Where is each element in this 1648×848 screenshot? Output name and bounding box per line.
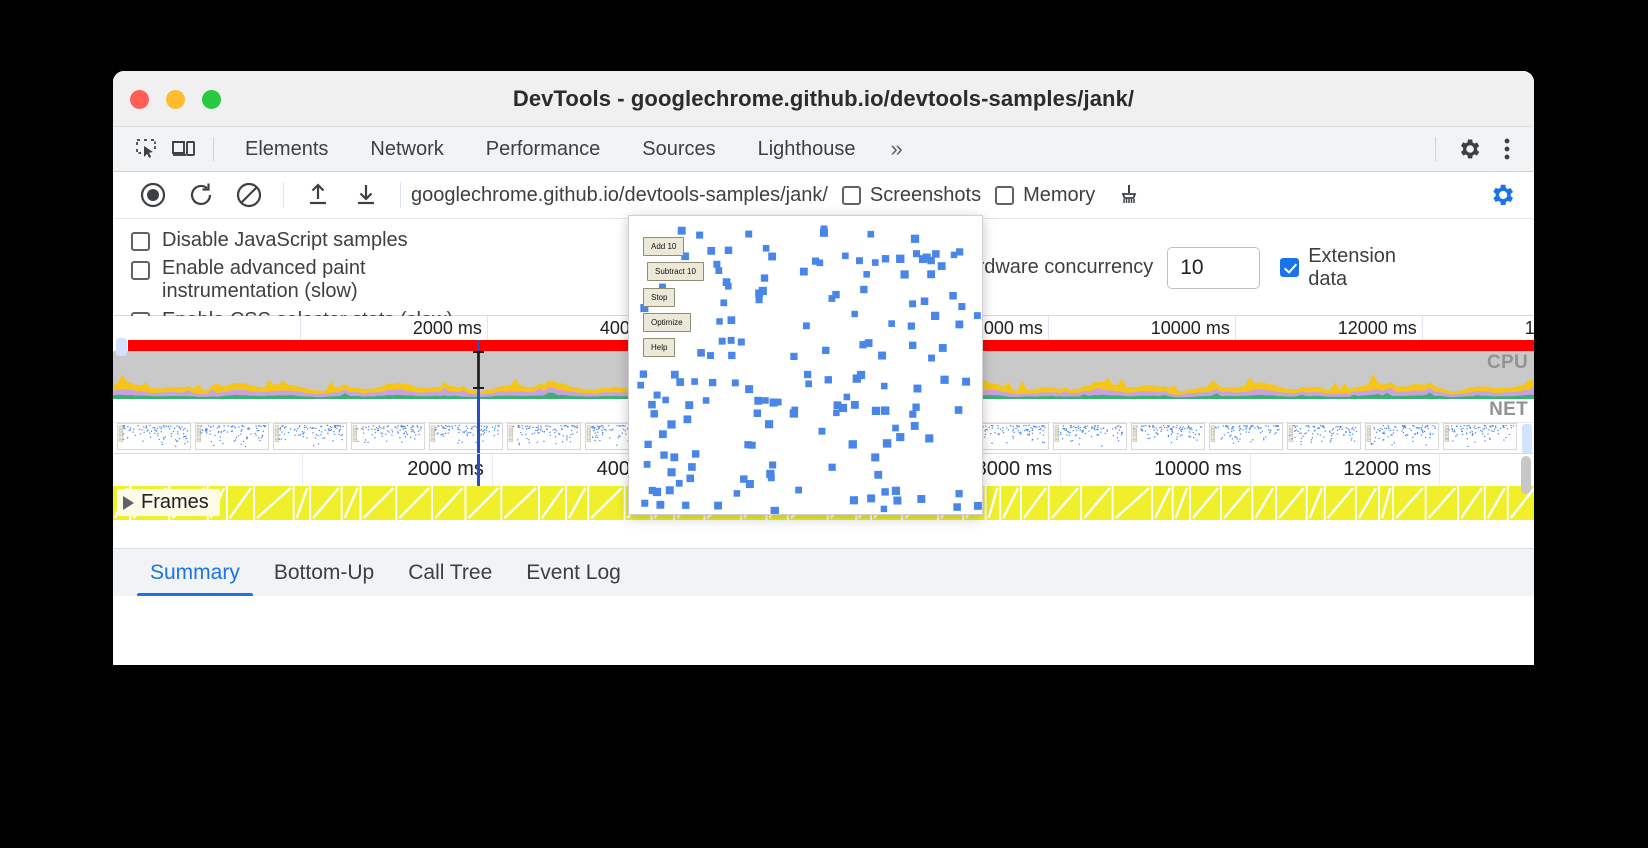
- timeline-scrollbar[interactable]: [1521, 456, 1531, 494]
- preview-button-stop[interactable]: Stop: [643, 288, 675, 307]
- overview-playhead-grip[interactable]: [472, 350, 485, 390]
- advanced-paint-checkbox[interactable]: [131, 261, 150, 280]
- advanced-paint-label: Enable advanced paint instrumentation (s…: [162, 257, 462, 303]
- devtools-window: DevTools - googlechrome.github.io/devtoo…: [113, 71, 1534, 665]
- detail-tick: 10000 ms: [1060, 454, 1249, 486]
- overview-window-left-handle[interactable]: [116, 338, 127, 356]
- extension-data-label: Extension data: [1308, 245, 1418, 291]
- hardware-concurrency-input[interactable]: 10: [1167, 247, 1260, 289]
- filmstrip-thumbnail[interactable]: [507, 423, 581, 450]
- detail-tick: 2000 ms: [302, 454, 491, 486]
- detail-tick: 14000 ms: [1439, 454, 1534, 486]
- screenshots-checkbox[interactable]: Screenshots: [842, 184, 981, 207]
- overview-tick-label: 2000 ms: [413, 318, 482, 339]
- disable-js-samples-label: Disable JavaScript samples: [162, 228, 408, 252]
- detail-tick-label: 10000 ms: [1154, 458, 1242, 481]
- detail-tick-label: 8000 ms: [976, 458, 1053, 481]
- tab-elements[interactable]: Elements: [224, 138, 349, 161]
- overview-tick-label: 12000 ms: [1338, 318, 1417, 339]
- reload-and-record-icon[interactable]: [177, 175, 225, 215]
- preview-sprites: [629, 216, 982, 514]
- performance-toolbar: googlechrome.github.io/devtools-samples/…: [113, 172, 1534, 219]
- cpu-band-label: CPU: [1487, 352, 1528, 374]
- filmstrip-thumbnail[interactable]: [117, 423, 191, 450]
- tab-summary[interactable]: Summary: [133, 549, 257, 596]
- filmstrip-thumbnail[interactable]: [1209, 423, 1283, 450]
- preview-button-add-10[interactable]: Add 10: [643, 237, 684, 256]
- tab-call-tree[interactable]: Call Tree: [391, 549, 509, 596]
- collect-garbage-icon[interactable]: [1105, 175, 1153, 215]
- detail-view-tabs: Summary Bottom-Up Call Tree Event Log: [113, 548, 1534, 596]
- close-button[interactable]: [130, 90, 149, 109]
- memory-checkbox-box[interactable]: [995, 186, 1014, 205]
- filmstrip-thumbnail[interactable]: [1365, 423, 1439, 450]
- more-tabs-icon[interactable]: »: [876, 136, 916, 162]
- window-title: DevTools - googlechrome.github.io/devtoo…: [113, 86, 1534, 112]
- overview-tick-label: 8000 ms: [974, 318, 1043, 339]
- net-band-label: NET: [1489, 399, 1528, 421]
- frames-track-label[interactable]: Frames: [117, 489, 220, 516]
- inspect-element-icon[interactable]: [127, 132, 165, 166]
- filmstrip-thumbnail[interactable]: [1287, 423, 1361, 450]
- window-titlebar: DevTools - googlechrome.github.io/devtoo…: [113, 71, 1534, 127]
- screenshot-preview-popup: Add 10 Subtract 10 Stop Optimize Help: [628, 215, 983, 515]
- frames-label-text: Frames: [141, 491, 209, 514]
- gear-icon[interactable]: [1450, 132, 1488, 166]
- filmstrip-thumbnail[interactable]: [273, 423, 347, 450]
- window-controls[interactable]: [130, 90, 221, 109]
- download-profile-icon[interactable]: [342, 175, 390, 215]
- filmstrip-thumbnail[interactable]: [1053, 423, 1127, 450]
- upload-profile-icon[interactable]: [294, 175, 342, 215]
- preview-button-help[interactable]: Help: [643, 338, 675, 357]
- overview-tick: 14000 ms: [1422, 316, 1534, 340]
- zoom-button[interactable]: [202, 90, 221, 109]
- preview-button-optimize[interactable]: Optimize: [643, 313, 691, 332]
- toolbar-divider-1: [283, 182, 284, 208]
- clear-icon[interactable]: [225, 175, 273, 215]
- expand-triangle-icon[interactable]: [123, 496, 134, 510]
- tab-performance[interactable]: Performance: [465, 138, 622, 161]
- overview-window-right-handle[interactable]: [1522, 424, 1532, 454]
- tab-sources[interactable]: Sources: [621, 138, 736, 161]
- tab-bottom-up[interactable]: Bottom-Up: [257, 549, 391, 596]
- tab-event-log[interactable]: Event Log: [509, 549, 638, 596]
- capture-settings-gear-icon[interactable]: [1478, 175, 1526, 215]
- tabstrip-right-divider: [1435, 137, 1436, 161]
- overview-tick-label: 10000 ms: [1151, 318, 1230, 339]
- detail-tick-label: 2000 ms: [407, 458, 484, 481]
- detail-playhead[interactable]: [477, 454, 480, 486]
- overview-tick: 12000 ms: [1235, 316, 1422, 340]
- overview-tick: 10000 ms: [1048, 316, 1235, 340]
- memory-label: Memory: [1023, 184, 1095, 207]
- filmstrip-thumbnail[interactable]: [975, 423, 1049, 450]
- tabstrip-divider: [213, 137, 214, 161]
- record-icon[interactable]: [129, 175, 177, 215]
- detail-tick: 12000 ms: [1250, 454, 1439, 486]
- overview-tick-label: 14000 ms: [1525, 318, 1534, 339]
- screenshots-label: Screenshots: [870, 184, 981, 207]
- filmstrip-thumbnail[interactable]: [195, 423, 269, 450]
- filmstrip-thumbnail[interactable]: [1131, 423, 1205, 450]
- minimize-button[interactable]: [166, 90, 185, 109]
- extension-data-checkbox-box[interactable]: [1280, 258, 1299, 277]
- tab-lighthouse[interactable]: Lighthouse: [737, 138, 877, 161]
- kebab-menu-icon[interactable]: [1488, 132, 1526, 166]
- filmstrip-thumbnail[interactable]: [429, 423, 503, 450]
- profile-url-label: googlechrome.github.io/devtools-samples/…: [411, 184, 828, 207]
- detail-tick-label: 14000 ms: [1533, 458, 1534, 481]
- device-toolbar-icon[interactable]: [165, 132, 203, 166]
- disable-js-samples-checkbox[interactable]: [131, 232, 150, 251]
- extension-data-checkbox[interactable]: Extension data: [1280, 245, 1418, 291]
- filmstrip-thumbnail[interactable]: [1443, 423, 1517, 450]
- toolbar-divider-2: [400, 182, 401, 208]
- tab-network[interactable]: Network: [349, 138, 464, 161]
- filmstrip-thumbnail[interactable]: [351, 423, 425, 450]
- preview-button-subtract-10[interactable]: Subtract 10: [647, 262, 704, 281]
- detail-tick-label: 12000 ms: [1343, 458, 1431, 481]
- overview-tick: 2000 ms: [300, 316, 487, 340]
- memory-checkbox[interactable]: Memory: [995, 184, 1095, 207]
- devtools-tabstrip: Elements Network Performance Sources Lig…: [113, 127, 1534, 172]
- screenshots-checkbox-box[interactable]: [842, 186, 861, 205]
